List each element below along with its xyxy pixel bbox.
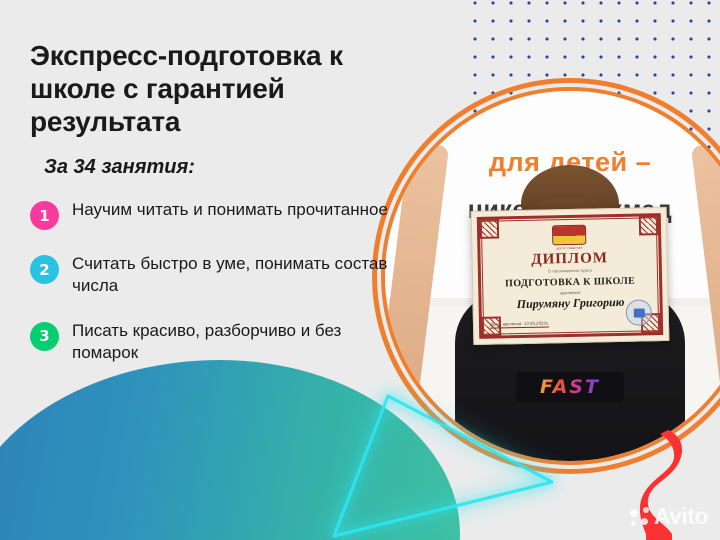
- benefit-text: Считать быстро в уме, понимать состав чи…: [72, 253, 390, 297]
- diploma-seal-icon: [626, 299, 653, 326]
- list-item: 1 Научим читать и понимать прочитанное: [30, 199, 390, 230]
- avito-watermark: Avito: [630, 503, 708, 530]
- right-arm: [691, 141, 720, 410]
- diploma-date-value: 13.05.2023г.: [524, 320, 549, 326]
- page-title: Экспресс-подготовка к школе с гарантией …: [30, 40, 390, 138]
- school-logo-icon: [552, 225, 586, 246]
- shirt-text: FAST: [540, 376, 600, 398]
- diploma-body: ЦЕНТР РАЗВИТИЯ ДИПЛОМ О прохождении курс…: [486, 222, 654, 329]
- subheadline: За 34 занятия:: [44, 156, 390, 179]
- diploma-course-name: ПОДГОТОВКА К ШКОЛЕ: [487, 275, 653, 289]
- benefit-number-badge: 2: [30, 255, 59, 284]
- seal-inner: [633, 308, 644, 317]
- ad-creative: для детей – цике Ш я Ахмад: [0, 0, 720, 540]
- benefit-text: Научим читать и понимать прочитанное: [72, 199, 388, 221]
- diploma-date: Дата вручения: 13.05.2023г.: [490, 320, 549, 328]
- list-item: 3 Писать красиво, разборчиво и без помар…: [30, 320, 390, 364]
- diploma-date-label: Дата вручения:: [490, 321, 523, 327]
- benefits-list: 1 Научим читать и понимать прочитанное 2…: [30, 199, 390, 363]
- benefit-number-badge: 1: [30, 201, 59, 230]
- benefit-text: Писать красиво, разборчиво и без помарок: [72, 320, 390, 364]
- avito-logo-icon: [630, 507, 649, 526]
- copy-block: Экспресс-подготовка к школе с гарантией …: [30, 40, 390, 386]
- diploma-certificate: ЦЕНТР РАЗВИТИЯ ДИПЛОМ О прохождении курс…: [471, 207, 670, 345]
- benefit-number-badge: 3: [30, 322, 59, 351]
- left-arm: [385, 141, 449, 410]
- neon-triangle-decoration: [326, 396, 556, 540]
- list-item: 2 Считать быстро в уме, понимать состав …: [30, 253, 390, 297]
- avito-wordmark: Avito: [654, 503, 708, 530]
- diploma-footer: Дата вручения: 13.05.2023г.: [490, 299, 653, 328]
